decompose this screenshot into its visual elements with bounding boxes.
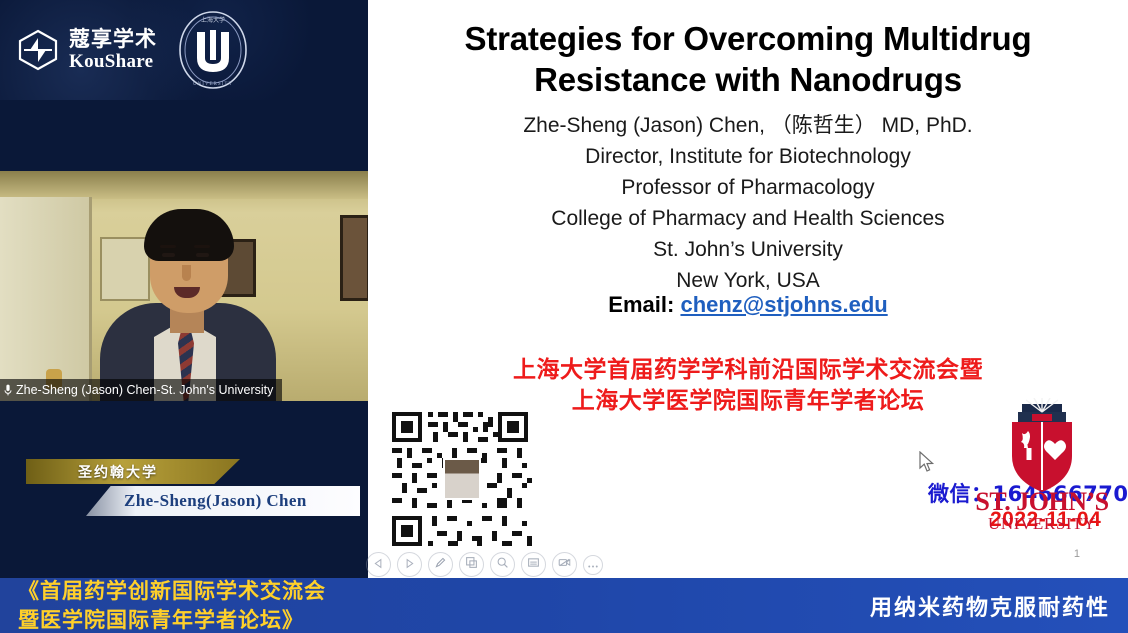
slide-title-line-2: Resistance with Nanodrugs: [390, 59, 1106, 100]
more-options-button[interactable]: [583, 555, 603, 575]
bottom-banner: 《首届药学创新国际学术交流会 暨医学院国际青年学者论坛》 用纳米药物克服耐药性: [0, 578, 1128, 633]
whiteboard-button[interactable]: [521, 552, 546, 577]
st-johns-university-logo: ST. JOHN’S UNIVERSITY: [960, 398, 1124, 534]
stop-video-button[interactable]: [552, 552, 577, 577]
video-name-label: Zhe-Sheng (Jason) Chen-St. John's Univer…: [0, 379, 282, 401]
presentation-toolbar: [366, 552, 603, 577]
bottom-left-line-1: 《首届药学创新国际学术交流会: [18, 576, 478, 605]
annotate-pen-button[interactable]: [428, 552, 453, 577]
email-link[interactable]: chenz@stjohns.edu: [680, 292, 887, 317]
slide-page-number: 1: [1074, 548, 1080, 560]
affiliation-line: Director, Institute for Biotechnology: [388, 141, 1108, 172]
lower-third-org-banner: 圣约翰大学: [26, 459, 240, 484]
koushare-english-name: KouShare: [69, 52, 157, 71]
speaker-figure: [92, 195, 282, 401]
video-off-icon: [558, 556, 571, 574]
bottom-banner-right-text: 用纳米药物克服耐药性: [870, 590, 1110, 622]
slide-title-line-1: Strategies for Overcoming Multidrug: [390, 18, 1106, 59]
bottom-left-line-2: 暨医学院国际青年学者论坛》: [18, 605, 478, 633]
lower-third-banner: 圣约翰大学 Zhe-Sheng(Jason) Chen: [20, 459, 360, 523]
slide-affiliation-block: Zhe-Sheng (Jason) Chen, （陈哲生） MD, PhD. D…: [388, 110, 1108, 296]
lower-third-org-text: 圣约翰大学: [78, 462, 158, 482]
app-root: 蔻享学术 KouShare 上海大学 UNIVERSITY: [0, 0, 1128, 633]
ellipsis-icon: [587, 556, 599, 574]
koushare-wordmark: 蔻享学术 KouShare: [69, 29, 157, 71]
svg-text:UNIVERSITY: UNIVERSITY: [193, 82, 233, 87]
shanghai-university-seal-icon: 上海大学 UNIVERSITY: [175, 8, 251, 92]
bottom-banner-left-text: 《首届药学创新国际学术交流会 暨医学院国际青年学者论坛》: [18, 576, 478, 633]
microphone-icon: [4, 384, 12, 396]
lower-third-name-banner: Zhe-Sheng(Jason) Chen: [86, 486, 360, 516]
previous-slide-button[interactable]: [366, 552, 391, 577]
affiliation-line: St. John’s University: [388, 234, 1108, 265]
koushare-chinese-name: 蔻享学术: [69, 29, 157, 50]
zoom-search-button[interactable]: [490, 552, 515, 577]
conference-title-line-1: 上海大学首届药学学科前沿国际学术交流会暨: [388, 355, 1108, 386]
svg-text:UNIVERSITY: UNIVERSITY: [988, 514, 1096, 533]
wechat-qr-code: [386, 404, 536, 552]
triangle-left-icon: [373, 556, 384, 574]
slide-email-row: Email: chenz@stjohns.edu: [388, 292, 1108, 318]
svg-text:ST. JOHN’S: ST. JOHN’S: [975, 487, 1108, 516]
qr-center-avatar: [443, 458, 481, 500]
svg-text:上海大学: 上海大学: [201, 16, 225, 24]
affiliation-line: College of Pharmacy and Health Sciences: [388, 203, 1108, 234]
mouse-cursor-icon: [919, 451, 936, 473]
left-panel: 蔻享学术 KouShare 上海大学 UNIVERSITY: [0, 0, 368, 578]
triangle-right-icon: [404, 556, 415, 574]
duplicate-window-button[interactable]: [459, 552, 484, 577]
affiliation-line: Zhe-Sheng (Jason) Chen, （陈哲生） MD, PhD.: [388, 110, 1108, 141]
lower-third-name-text: Zhe-Sheng(Jason) Chen: [124, 491, 307, 511]
next-slide-button[interactable]: [397, 552, 422, 577]
presentation-slide[interactable]: Strategies for Overcoming Multidrug Resi…: [368, 0, 1128, 578]
video-wall-art-3: [340, 215, 368, 301]
email-label: Email:: [608, 292, 674, 317]
affiliation-line: Professor of Pharmacology: [388, 172, 1108, 203]
video-name-text: Zhe-Sheng (Jason) Chen-St. John's Univer…: [16, 383, 273, 397]
copy-icon: [465, 556, 478, 574]
magnifier-icon: [496, 556, 509, 574]
speaker-video-tile[interactable]: Zhe-Sheng (Jason) Chen-St. John's Univer…: [0, 171, 368, 401]
pen-icon: [434, 556, 447, 574]
whiteboard-icon: [527, 556, 540, 574]
branding-bar: 蔻享学术 KouShare 上海大学 UNIVERSITY: [0, 0, 368, 100]
slide-title: Strategies for Overcoming Multidrug Resi…: [390, 18, 1106, 100]
koushare-logo: 蔻享学术 KouShare: [16, 28, 157, 72]
koushare-diamond-icon: [16, 28, 60, 72]
